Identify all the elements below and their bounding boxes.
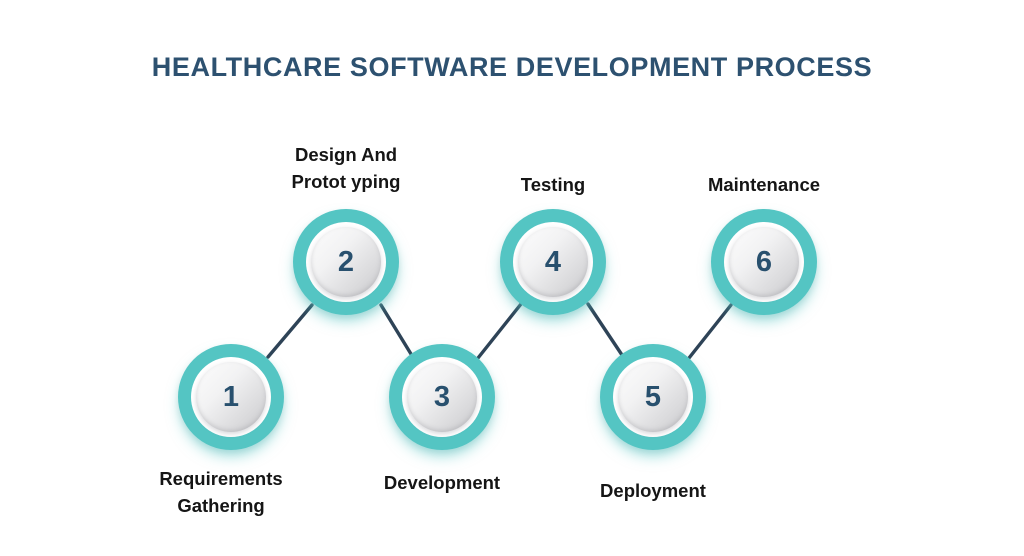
process-step-node-5[interactable]: 5 bbox=[600, 344, 706, 450]
process-step-node-6[interactable]: 6 bbox=[711, 209, 817, 315]
step-label-4: Testing bbox=[438, 172, 668, 199]
process-step-node-1[interactable]: 1 bbox=[178, 344, 284, 450]
step-disc-5: 5 bbox=[618, 362, 688, 432]
process-step-node-4[interactable]: 4 bbox=[500, 209, 606, 315]
step-ring-4: 4 bbox=[500, 209, 606, 315]
diagram-canvas: Healthcare Software Development Process … bbox=[0, 0, 1024, 556]
step-number-2: 2 bbox=[338, 248, 354, 277]
step-number-5: 5 bbox=[645, 383, 661, 412]
step-number-3: 3 bbox=[434, 383, 450, 412]
process-step-node-2[interactable]: 2 bbox=[293, 209, 399, 315]
step-disc-1: 1 bbox=[196, 362, 266, 432]
step-ring-2: 2 bbox=[293, 209, 399, 315]
step-label-3: Development bbox=[327, 470, 557, 497]
step-ring-5: 5 bbox=[600, 344, 706, 450]
step-disc-6: 6 bbox=[729, 227, 799, 297]
step-number-4: 4 bbox=[545, 248, 561, 277]
step-label-1: Requirements Gathering bbox=[106, 466, 336, 520]
step-disc-2: 2 bbox=[311, 227, 381, 297]
step-disc-3: 3 bbox=[407, 362, 477, 432]
page-title: Healthcare Software Development Process bbox=[0, 52, 1024, 83]
step-ring-1: 1 bbox=[178, 344, 284, 450]
step-label-5: Deployment bbox=[538, 478, 768, 505]
process-step-node-3[interactable]: 3 bbox=[389, 344, 495, 450]
step-disc-4: 4 bbox=[518, 227, 588, 297]
step-number-6: 6 bbox=[756, 248, 772, 277]
step-ring-6: 6 bbox=[711, 209, 817, 315]
step-ring-3: 3 bbox=[389, 344, 495, 450]
step-number-1: 1 bbox=[223, 383, 239, 412]
step-label-2: Design And Protot yping bbox=[231, 142, 461, 196]
step-label-6: Maintenance bbox=[649, 172, 879, 199]
